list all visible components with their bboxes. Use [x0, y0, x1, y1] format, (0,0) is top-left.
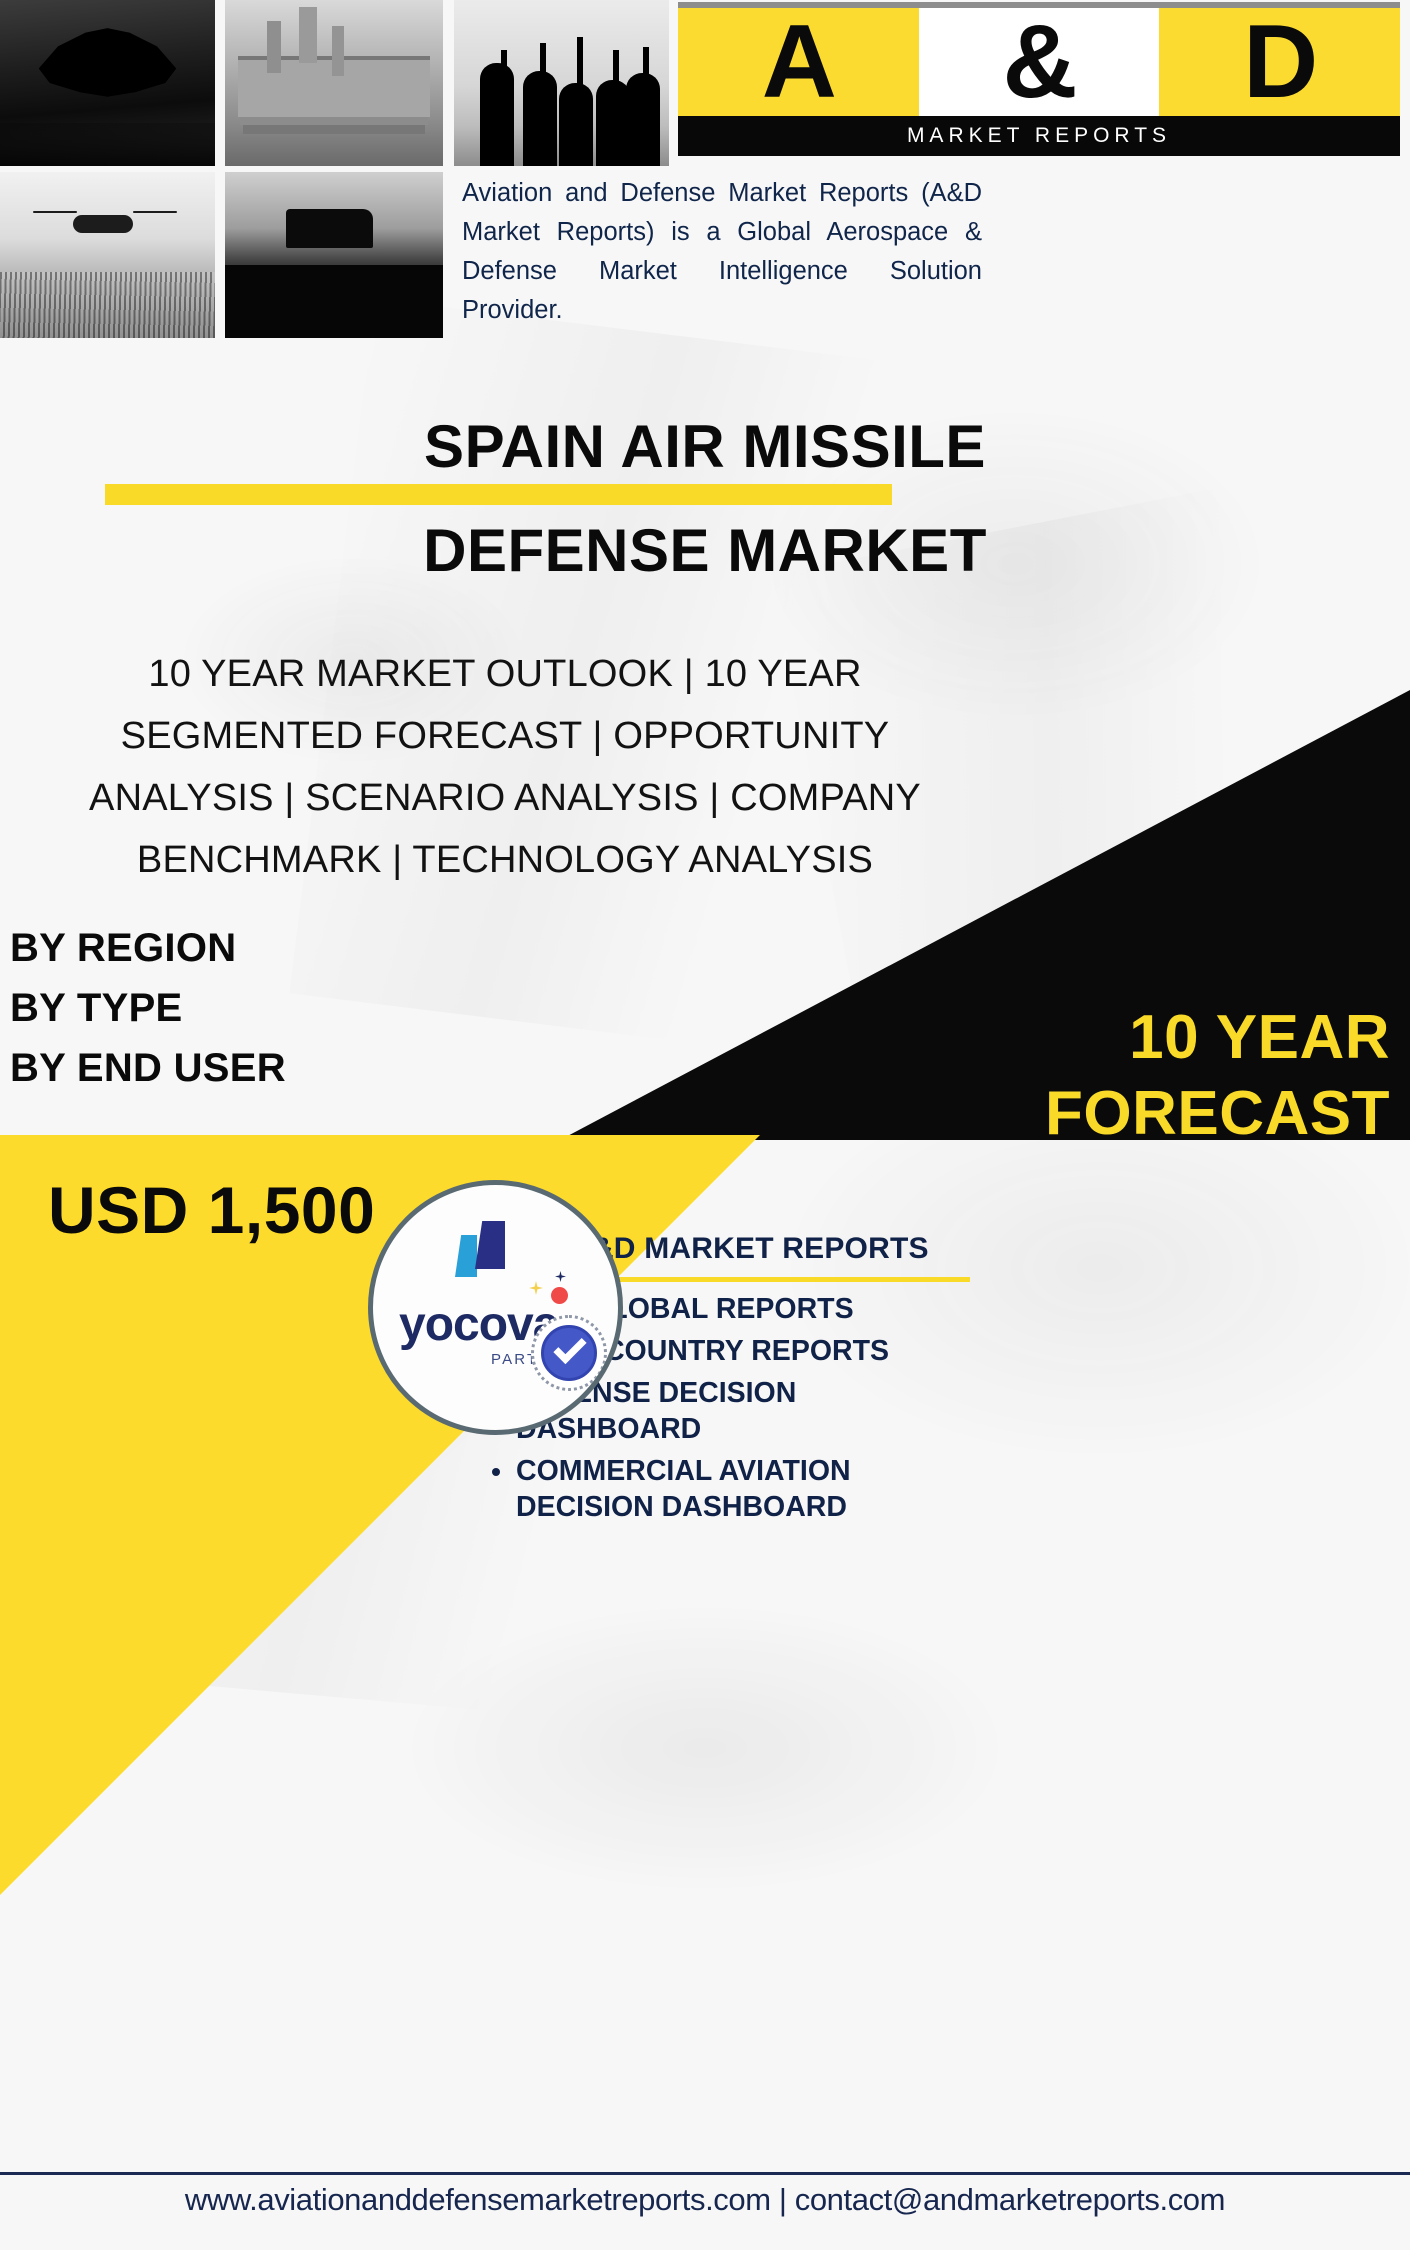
soldiers-silhouette-photo	[454, 0, 669, 166]
title-divider-rule	[105, 484, 892, 505]
footer-divider	[0, 2172, 1410, 2175]
logo-tagline-bar: MARKET REPORTS	[678, 116, 1400, 156]
company-intro-paragraph: Aviation and Defense Market Reports (A&D…	[462, 174, 982, 330]
report-title-line-1: SPAIN AIR MISSILE	[0, 412, 1410, 481]
helicopter-photo	[0, 172, 215, 338]
logo-tagline-text: MARKET REPORTS	[907, 124, 1171, 148]
yocova-flag-icon	[455, 1221, 515, 1277]
segmentation-item-type: BY TYPE	[10, 978, 286, 1038]
armored-vehicle-photo	[225, 172, 443, 338]
and-market-reports-logo: A & D MARKET REPORTS	[678, 2, 1400, 160]
logo-letter-a: A	[678, 8, 919, 116]
segmentation-item-region: BY REGION	[10, 918, 286, 978]
report-scope-subtitle: 10 YEAR MARKET OUTLOOK | 10 YEAR SEGMENT…	[30, 644, 980, 892]
forecast-callout: 10 YEAR FORECAST	[630, 1000, 1390, 1151]
verified-check-icon	[531, 1315, 607, 1391]
segmentation-item-end-user: BY END USER	[10, 1038, 286, 1098]
about-bullet-aviation-dashboard: COMMERCIAL AVIATION DECISION DASHBOARD	[490, 1454, 960, 1526]
report-title-line-2: DEFENSE MARKET	[0, 516, 1410, 585]
aircraft-carrier-photo	[225, 0, 443, 166]
logo-letter-d: D	[1159, 8, 1400, 116]
report-cover-page: A & D MARKET REPORTS Aviation and Defens…	[0, 0, 1410, 2250]
logo-letter-tiles: A & D	[678, 8, 1400, 116]
segmentation-list: BY REGION BY TYPE BY END USER	[10, 918, 286, 1098]
footer-contact-text: www.aviationanddefensemarketreports.com …	[0, 2182, 1410, 2218]
forecast-line-1: 10 YEAR	[630, 1000, 1390, 1076]
fighter-jet-photo	[0, 0, 215, 166]
price-label: USD 1,500	[48, 1172, 375, 1248]
logo-letter-ampersand: &	[919, 8, 1160, 116]
yocova-partner-badge: yocova PARTNER	[368, 1180, 623, 1435]
